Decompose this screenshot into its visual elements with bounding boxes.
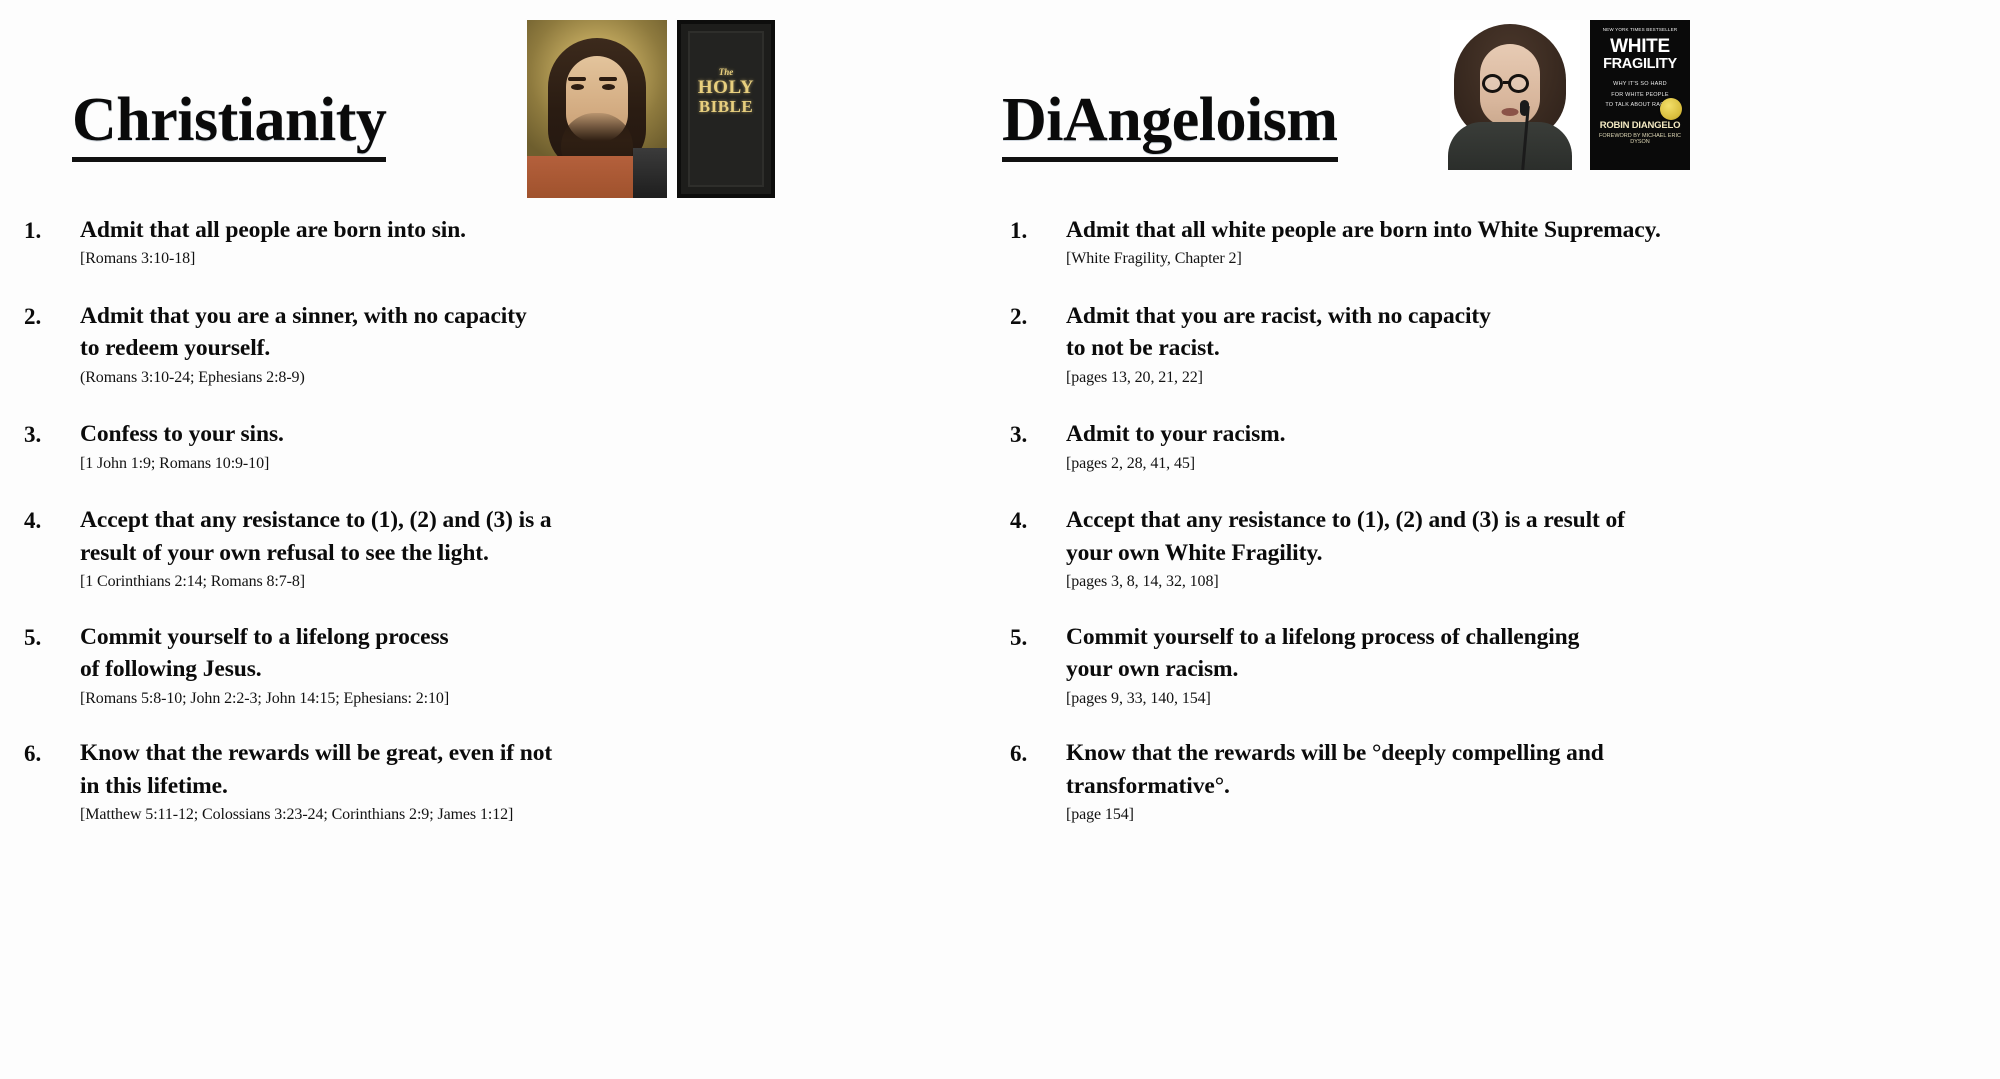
list-item-number: 1. [1010,214,1066,247]
list-item-body: Commit yourself to a lifelong process of… [80,621,1000,709]
list-gap [0,270,1000,300]
list-gap [1000,388,2000,418]
diangeloism-column: DiAngeloism NEW YORK TIMES BESTSEL [1000,0,2000,1079]
list-item-body: Confess to your sins. [1 John 1:9; Roman… [80,418,1000,474]
list-item: 5. Commit yourself to a lifelong process… [0,621,1000,709]
christianity-image-strip: The HOLY BIBLE [527,20,775,198]
list-item-body: Admit that you are racist, with no capac… [1066,300,2000,388]
list-item-citation: [1 Corinthians 2:14; Romans 8:7-8] [80,571,1000,593]
list-item-citation: [pages 3, 8, 14, 32, 108] [1066,571,2000,593]
diangelo-portrait-image [1440,20,1580,170]
list-item-citation: (Romans 3:10-24; Ephesians 2:8-9) [80,367,1000,389]
list-item: 3. Confess to your sins. [1 John 1:9; Ro… [0,418,1000,474]
list-item-body: Admit that all people are born into sin.… [80,214,1000,270]
book-cover-content: NEW YORK TIMES BESTSELLER WHITE FRAGILIT… [1590,20,1690,170]
page-title-diangeloism: DiAngeloism [1002,89,1338,162]
list-item: 2. Admit that you are a sinner, with no … [0,300,1000,388]
jesus-left-brow-shape [568,77,586,81]
list-item-statement: Know that the rewards will be great, eve… [80,737,1000,802]
microphone-head-icon [1520,100,1529,116]
list-item-statement: Admit that all white people are born int… [1066,214,2000,246]
diangelo-glasses-bridge-shape [1503,81,1510,84]
list-item-number: 6. [24,737,80,770]
list-item-statement: Admit that you are racist, with no capac… [1066,300,2000,365]
list-item-statement: Know that the rewards will be °deeply co… [1066,737,2000,802]
list-item-number: 1. [24,214,80,247]
list-item-number: 5. [1010,621,1066,654]
list-item-body: Commit yourself to a lifelong process of… [1066,621,2000,709]
diangeloism-image-strip: NEW YORK TIMES BESTSELLER WHITE FRAGILIT… [1440,20,1690,170]
list-item-statement: Admit that all people are born into sin. [80,214,1000,246]
list-item: 6. Know that the rewards will be great, … [0,737,1000,825]
jesus-right-brow-shape [599,77,617,81]
list-item-statement: Admit to your racism. [1066,418,2000,450]
list-item-statement: Admit that you are a sinner, with no cap… [80,300,1000,365]
list-item: 2. Admit that you are racist, with no ca… [1000,300,2000,388]
christianity-steps-list: 1. Admit that all people are born into s… [0,214,1000,826]
diangelo-right-lens-shape [1508,74,1529,93]
list-item-statement: Accept that any resistance to (1), (2) a… [80,504,1000,569]
list-item-citation: [pages 9, 33, 140, 154] [1066,688,2000,710]
bible-holy-label: HOLY [681,78,771,98]
list-item-body: Admit that you are a sinner, with no cap… [80,300,1000,388]
book-foreword-label: FOREWORD BY MICHAEL ERIC DYSON [1596,133,1684,145]
list-item: 1. Admit that all people are born into s… [0,214,1000,270]
diangeloism-steps-list: 1. Admit that all white people are born … [1000,214,2000,826]
book-title-line-one: WHITE [1596,38,1684,56]
christianity-column: Christianity The [0,0,1000,1079]
book-author-label: ROBIN DIANGELO [1596,120,1684,131]
diangeloism-title-wrap: DiAngeloism [1002,89,1338,162]
christianity-title-wrap: Christianity [72,89,386,162]
list-gap [0,388,1000,418]
list-item-citation: [page 154] [1066,804,2000,826]
book-award-seal-icon [1660,98,1682,120]
list-item-body: Know that the rewards will be °deeply co… [1066,737,2000,825]
list-item-citation: [White Fragility, Chapter 2] [1066,248,2000,270]
list-item-number: 5. [24,621,80,654]
list-gap [1000,709,2000,737]
bible-cover-text: The HOLY BIBLE [681,68,771,115]
list-item-statement: Accept that any resistance to (1), (2) a… [1066,504,2000,569]
list-item-body: Accept that any resistance to (1), (2) a… [80,504,1000,592]
diangelo-torso-shape [1448,122,1572,170]
list-item-body: Admit to your racism. [pages 2, 28, 41, … [1066,418,2000,474]
list-item: 3. Admit to your racism. [pages 2, 28, 4… [1000,418,2000,474]
jesus-portrait-image [527,20,667,198]
diangeloism-header: DiAngeloism NEW YORK TIMES BESTSEL [1000,0,2000,210]
list-item-statement: Confess to your sins. [80,418,1000,450]
list-item-body: Admit that all white people are born int… [1066,214,2000,270]
diangelo-mouth-shape [1502,108,1519,116]
white-fragility-book-image: NEW YORK TIMES BESTSELLER WHITE FRAGILIT… [1590,20,1690,170]
list-item-number: 2. [24,300,80,333]
list-item-number: 3. [24,418,80,451]
diangelo-left-lens-shape [1482,74,1503,93]
list-item-number: 3. [1010,418,1066,451]
list-item: 4. Accept that any resistance to (1), (2… [0,504,1000,592]
list-gap [0,593,1000,621]
list-item-body: Accept that any resistance to (1), (2) a… [1066,504,2000,592]
list-gap [0,709,1000,737]
list-gap [0,474,1000,504]
list-gap [1000,270,2000,300]
list-item-statement: Commit yourself to a lifelong process of… [80,621,1000,686]
list-gap [1000,593,2000,621]
list-item: 6. Know that the rewards will be °deeply… [1000,737,2000,825]
list-item-statement: Commit yourself to a lifelong process of… [1066,621,2000,686]
list-item-citation: [Romans 3:10-18] [80,248,1000,270]
list-item-citation: [1 John 1:9; Romans 10:9-10] [80,453,1000,475]
holy-bible-image: The HOLY BIBLE [677,20,775,198]
list-item-number: 2. [1010,300,1066,333]
list-item-citation: [pages 2, 28, 41, 45] [1066,453,2000,475]
jesus-shoulder-shape [633,148,667,198]
list-item: 4. Accept that any resistance to (1), (2… [1000,504,2000,592]
list-gap [1000,474,2000,504]
page-title-christianity: Christianity [72,89,386,162]
list-item-body: Know that the rewards will be great, eve… [80,737,1000,825]
list-item: 5. Commit yourself to a lifelong process… [1000,621,2000,709]
list-item-citation: [Matthew 5:11-12; Colossians 3:23-24; Co… [80,804,1000,826]
book-title-line-two: FRAGILITY [1596,57,1684,72]
slide-canvas: Christianity The [0,0,2000,1079]
list-item-number: 4. [1010,504,1066,537]
list-item: 1. Admit that all white people are born … [1000,214,2000,270]
list-item-number: 6. [1010,737,1066,770]
list-item-citation: [Romans 5:8-10; John 2:2-3; John 14:15; … [80,688,1000,710]
christianity-header: Christianity The [0,0,1000,210]
list-item-number: 4. [24,504,80,537]
book-bestseller-label: NEW YORK TIMES BESTSELLER [1596,27,1684,34]
list-item-citation: [pages 13, 20, 21, 22] [1066,367,2000,389]
bible-bible-label: BIBLE [681,98,771,116]
